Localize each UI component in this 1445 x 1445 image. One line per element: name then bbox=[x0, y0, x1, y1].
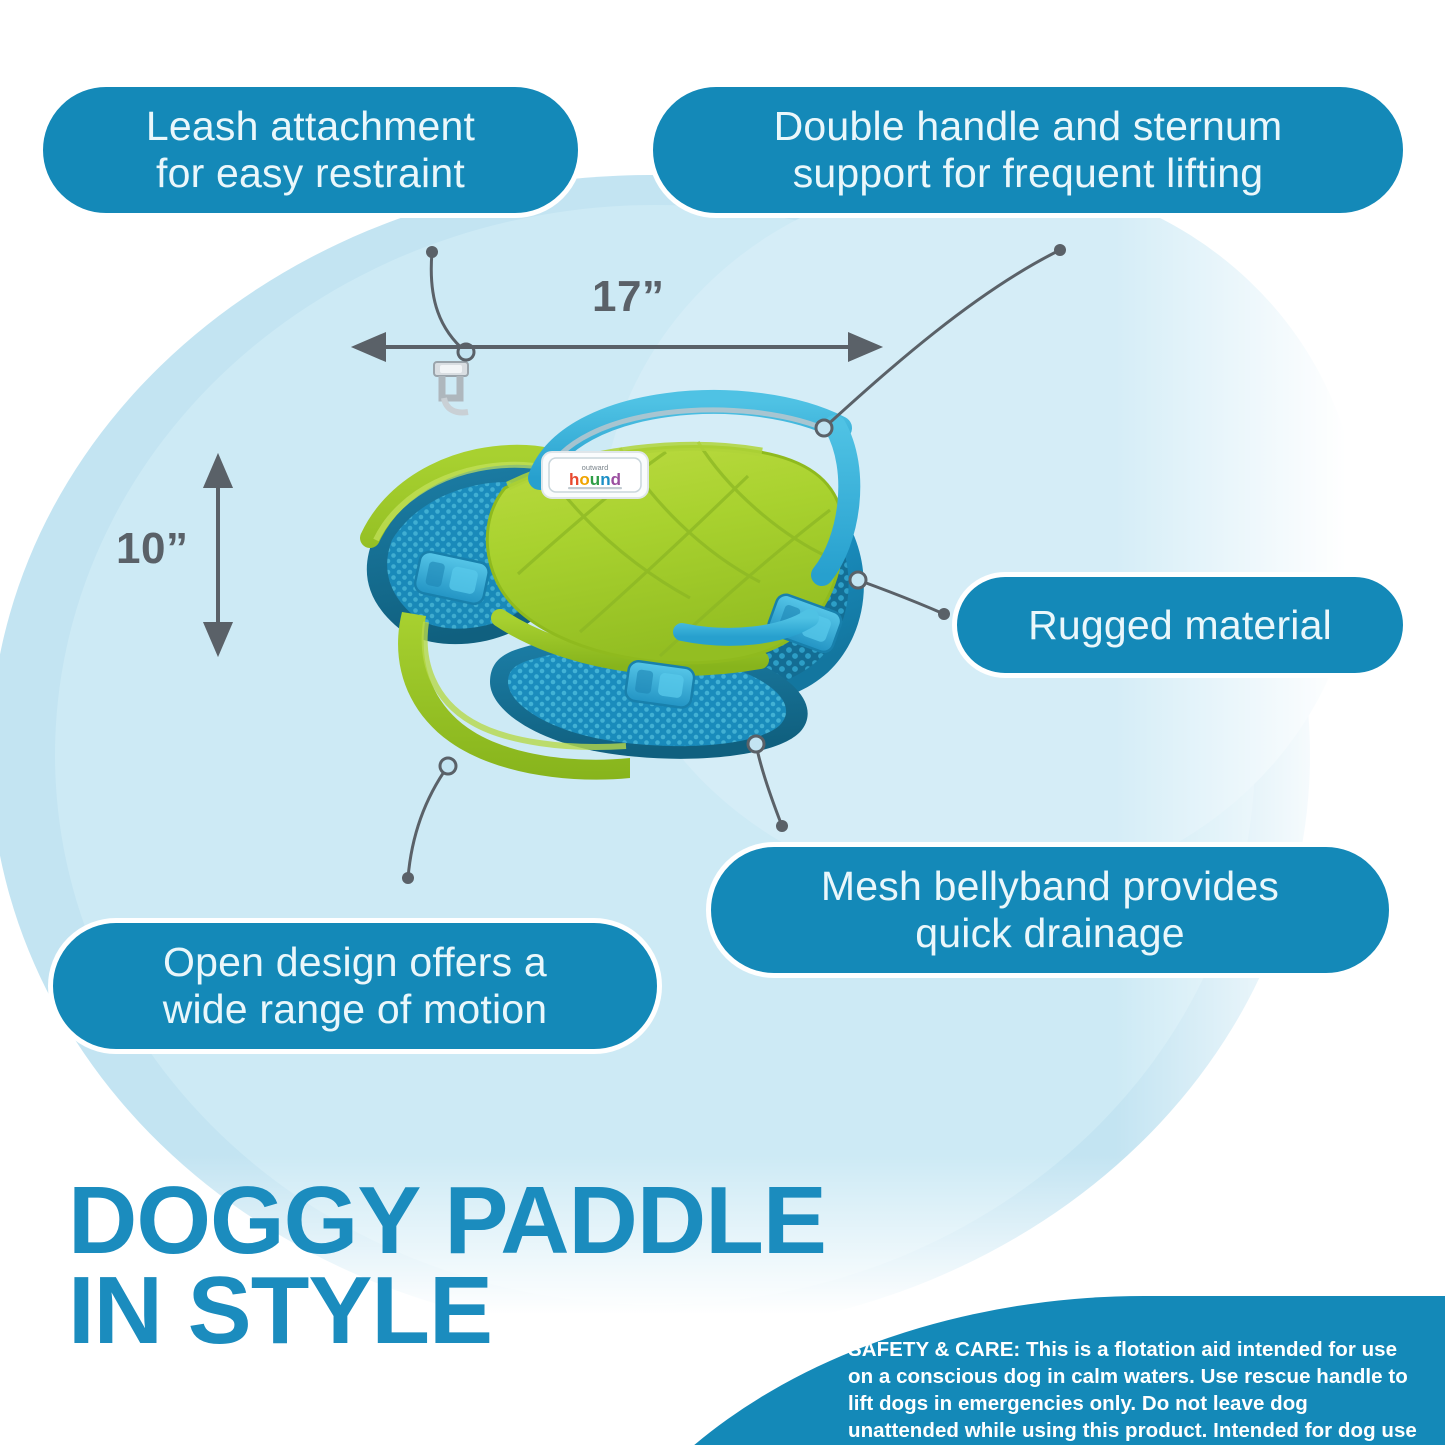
callout-leash-line1: Leash attachment bbox=[146, 103, 475, 150]
callout-open-line2: wide range of motion bbox=[163, 986, 548, 1033]
callout-handle-line1: Double handle and sternum bbox=[774, 103, 1283, 150]
callout-handle-line2: support for frequent lifting bbox=[774, 150, 1283, 197]
dimension-height-label: 10” bbox=[116, 524, 188, 574]
callout-mesh-line1: Mesh bellyband provides bbox=[821, 863, 1279, 910]
buckle-center bbox=[624, 660, 695, 709]
callout-mesh-bellyband[interactable]: Mesh bellyband provides quick drainage bbox=[706, 842, 1394, 978]
callout-double-handle[interactable]: Double handle and sternum support for fr… bbox=[648, 82, 1408, 218]
product-image-dog-life-jacket: outward hound bbox=[330, 360, 900, 790]
callout-open-line1: Open design offers a bbox=[163, 939, 548, 986]
callout-open-design[interactable]: Open design offers a wide range of motio… bbox=[48, 918, 662, 1054]
headline-line2: IN STYLE bbox=[68, 1266, 826, 1356]
dimension-width-label: 17” bbox=[592, 272, 664, 322]
callout-leash-attachment[interactable]: Leash attachment for easy restraint bbox=[38, 82, 583, 218]
callout-mesh-line2: quick drainage bbox=[821, 910, 1279, 957]
page-title: DOGGY PADDLE IN STYLE bbox=[68, 1176, 826, 1356]
svg-text:hound: hound bbox=[569, 470, 621, 489]
callout-rugged-material[interactable]: Rugged material bbox=[952, 572, 1408, 678]
brand-logo-patch: outward hound bbox=[542, 452, 648, 498]
callout-leash-line2: for easy restraint bbox=[146, 150, 475, 197]
leash-attachment-clip bbox=[434, 362, 468, 412]
safety-care-text: SAFETY & CARE: This is a flotation aid i… bbox=[848, 1336, 1418, 1445]
infographic-canvas: outward hound bbox=[0, 0, 1445, 1445]
callout-rugged-line1: Rugged material bbox=[1028, 602, 1332, 649]
